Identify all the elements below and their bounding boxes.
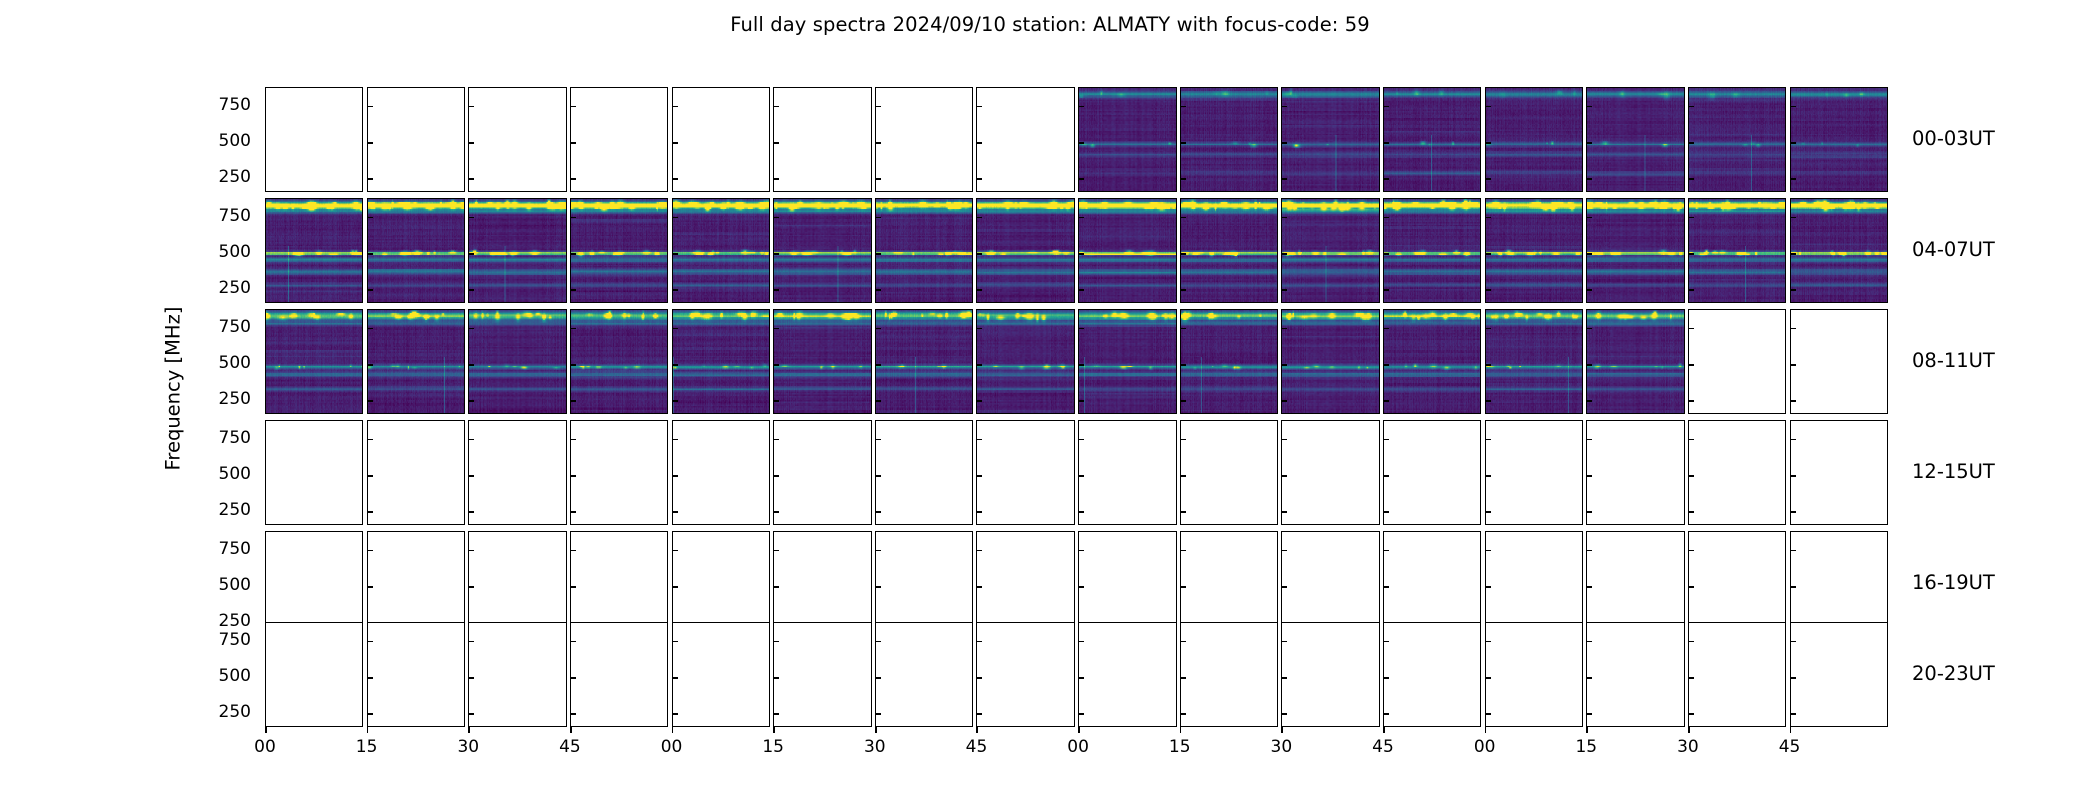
spectrogram-panel[interactable] <box>1688 309 1786 414</box>
spectrogram-row: 0015304500153045001530450015304575050025… <box>0 622 2100 727</box>
spectrogram-panel[interactable] <box>672 309 770 414</box>
y-tick-mark <box>773 217 779 219</box>
spectrogram-panel[interactable] <box>1688 198 1786 303</box>
spectrogram-image <box>1181 88 1277 191</box>
spectrogram-panel[interactable] <box>570 622 668 727</box>
y-tick-mark <box>570 677 576 679</box>
y-tick-mark <box>976 550 982 552</box>
spectrogram-panel[interactable] <box>976 420 1074 525</box>
spectrogram-panel[interactable] <box>570 198 668 303</box>
y-tick-mark <box>1790 713 1796 715</box>
y-tick-mark <box>773 677 779 679</box>
spectrogram-panel[interactable] <box>367 531 465 636</box>
spectrogram-panel[interactable] <box>672 622 770 727</box>
y-tick-mark <box>1383 713 1389 715</box>
spectrogram-panel[interactable] <box>1180 420 1278 525</box>
row-label-20-23ut: 20-23UT <box>1912 662 1995 685</box>
y-tick-mark <box>1688 328 1694 330</box>
spectrogram-panel[interactable] <box>1383 87 1481 192</box>
y-tick-mark <box>1485 511 1491 513</box>
y-tick-mark <box>1078 142 1084 144</box>
spectrogram-image <box>1587 310 1683 413</box>
spectrogram-image <box>571 310 667 413</box>
spectrogram-panel[interactable] <box>773 198 871 303</box>
row-label-12-15ut: 12-15UT <box>1912 460 1995 483</box>
y-tick-mark <box>1586 586 1592 588</box>
y-tick-mark <box>1383 641 1389 643</box>
y-tick-mark <box>773 364 779 366</box>
x-tick-mark <box>1383 727 1385 733</box>
y-tick-mark <box>1383 586 1389 588</box>
spectrogram-image <box>774 199 870 302</box>
y-tick-mark <box>976 106 982 108</box>
spectrogram-panel[interactable] <box>1790 87 1888 192</box>
y-tick-mark <box>265 511 266 513</box>
spectrogram-image <box>1791 88 1887 191</box>
spectrogram-panel[interactable] <box>672 87 770 192</box>
x-tick-mark <box>875 727 877 733</box>
spectrogram-panel[interactable] <box>1586 198 1684 303</box>
spectrogram-panel[interactable] <box>1688 87 1786 192</box>
y-tick-mark <box>1281 253 1287 255</box>
x-tick-mark <box>468 727 470 733</box>
spectrogram-panel[interactable] <box>570 531 668 636</box>
spectrogram-panel[interactable] <box>773 531 871 636</box>
spectrogram-panel[interactable] <box>1485 622 1583 727</box>
y-tick-mark <box>672 439 678 441</box>
y-tick-mark <box>1688 677 1694 679</box>
y-tick-mark <box>570 328 576 330</box>
y-tick-mark <box>1586 439 1592 441</box>
y-tick-mark <box>468 106 474 108</box>
spectrogram-panel[interactable] <box>1586 87 1684 192</box>
y-tick-mark <box>1790 475 1796 477</box>
y-tick-mark <box>976 217 982 219</box>
y-tick-mark <box>1383 253 1389 255</box>
y-tick-mark <box>367 178 373 180</box>
spectrogram-panel[interactable] <box>1485 87 1583 192</box>
spectrogram-image <box>1079 199 1175 302</box>
y-tick-mark <box>570 106 576 108</box>
y-tick-mark <box>1688 253 1694 255</box>
x-tick-label: 15 <box>1556 737 1616 757</box>
x-tick-mark <box>1281 727 1283 733</box>
y-tick-mark <box>468 439 474 441</box>
spectrogram-panel[interactable] <box>1485 309 1583 414</box>
x-tick-label: 45 <box>1760 737 1820 757</box>
y-tick-mark <box>1485 586 1491 588</box>
spectrogram-panel[interactable] <box>1383 420 1481 525</box>
spectrogram-panel[interactable] <box>1281 198 1379 303</box>
x-tick-label: 15 <box>337 737 397 757</box>
y-tick-mark <box>976 511 982 513</box>
y-tick-mark <box>570 289 576 291</box>
y-tick-mark <box>468 289 474 291</box>
x-tick-label: 15 <box>743 737 803 757</box>
y-tick-mark <box>1790 641 1796 643</box>
spectrogram-panel[interactable] <box>1180 622 1278 727</box>
row-label-08-11ut: 08-11UT <box>1912 349 1995 372</box>
spectrogram-panel[interactable] <box>468 622 566 727</box>
y-tick-mark <box>1586 475 1592 477</box>
y-tick-mark <box>265 289 266 291</box>
spectrogram-panel[interactable] <box>1180 531 1278 636</box>
y-tick-mark <box>1383 677 1389 679</box>
y-tick-mark <box>875 475 881 477</box>
y-tick-mark <box>265 475 266 477</box>
spectrogram-panel[interactable] <box>773 622 871 727</box>
spectrogram-panel[interactable] <box>773 420 871 525</box>
y-tick-mark <box>1485 439 1491 441</box>
y-tick-mark <box>265 550 266 552</box>
spectrogram-image <box>1384 199 1480 302</box>
spectrogram-panel[interactable] <box>468 531 566 636</box>
y-tick-mark <box>1281 289 1287 291</box>
y-tick-mark <box>672 253 678 255</box>
y-tick-mark <box>1180 713 1186 715</box>
spectrogram-panel[interactable] <box>367 87 465 192</box>
y-tick-mark <box>1688 439 1694 441</box>
y-tick-mark <box>1383 142 1389 144</box>
y-tick-mark <box>1180 586 1186 588</box>
spectrogram-panel[interactable] <box>1586 420 1684 525</box>
spectrogram-image <box>673 310 769 413</box>
y-tick-mark <box>468 217 474 219</box>
spectrogram-panel[interactable] <box>1078 198 1176 303</box>
spectrogram-panel[interactable] <box>773 309 871 414</box>
spectrogram-image <box>1486 199 1582 302</box>
y-tick-mark <box>1485 289 1491 291</box>
y-tick-mark <box>1383 400 1389 402</box>
spectrogram-panel[interactable] <box>1383 309 1481 414</box>
spectrogram-panel[interactable] <box>1485 420 1583 525</box>
x-tick-mark <box>1485 727 1487 733</box>
y-tick-mark <box>1180 253 1186 255</box>
row-label-04-07ut: 04-07UT <box>1912 238 1995 261</box>
spectrogram-image <box>1486 310 1582 413</box>
y-tick-mark <box>875 253 881 255</box>
y-tick-mark <box>367 586 373 588</box>
y-tick-mark <box>367 439 373 441</box>
spectrogram-image <box>1181 199 1277 302</box>
y-tick-mark <box>1485 217 1491 219</box>
y-tick-mark <box>773 253 779 255</box>
spectrogram-panel[interactable] <box>1281 309 1379 414</box>
y-tick-mark <box>1281 217 1287 219</box>
x-tick-mark <box>1180 727 1182 733</box>
spectrogram-panel[interactable] <box>1078 420 1176 525</box>
spectrogram-panel[interactable] <box>1078 87 1176 192</box>
y-tick-mark <box>1790 439 1796 441</box>
spectrogram-row: 75050025012-15UT <box>0 420 2100 525</box>
y-tick-mark <box>1688 106 1694 108</box>
y-tick-mark <box>265 178 266 180</box>
spectrogram-panel[interactable] <box>1383 198 1481 303</box>
y-tick-mark <box>1790 289 1796 291</box>
y-tick-mark <box>672 217 678 219</box>
spectrogram-image <box>876 199 972 302</box>
y-tick-mark <box>1790 178 1796 180</box>
spectrogram-panel[interactable] <box>570 87 668 192</box>
y-tick-mark <box>672 475 678 477</box>
spectrogram-image <box>1181 310 1277 413</box>
spectrogram-panel[interactable] <box>976 531 1074 636</box>
x-tick-label: 45 <box>540 737 600 757</box>
row-label-16-19ut: 16-19UT <box>1912 571 1995 594</box>
y-tick-mark <box>1586 400 1592 402</box>
spectrogram-panel[interactable] <box>265 420 363 525</box>
y-tick-mark <box>875 511 881 513</box>
y-tick-mark <box>1586 713 1592 715</box>
y-tick-mark <box>875 586 881 588</box>
spectrogram-image <box>1587 199 1683 302</box>
y-tick-mark <box>1586 641 1592 643</box>
y-tick-mark <box>265 400 266 402</box>
spectrogram-panel[interactable] <box>875 198 973 303</box>
x-tick-mark <box>773 727 775 733</box>
y-tick-mark <box>1281 364 1287 366</box>
x-tick-mark <box>1078 727 1080 733</box>
y-tick-mark <box>1485 253 1491 255</box>
spectrogram-panel[interactable] <box>468 420 566 525</box>
x-tick-mark <box>570 727 572 733</box>
y-tick-mark <box>672 713 678 715</box>
y-tick-label: 750 <box>191 206 251 226</box>
x-tick-mark <box>976 727 978 733</box>
spectrogram-panel[interactable] <box>1790 309 1888 414</box>
x-tick-label: 00 <box>235 737 295 757</box>
spectrogram-panel[interactable] <box>672 420 770 525</box>
spectrogram-panel[interactable] <box>1383 622 1481 727</box>
y-tick-mark <box>672 511 678 513</box>
y-tick-mark <box>875 641 881 643</box>
spectrogram-panel[interactable] <box>367 309 465 414</box>
spectrogram-row: 75050025004-07UT <box>0 198 2100 303</box>
spectrogram-panel[interactable] <box>1180 309 1278 414</box>
spectrogram-panel[interactable] <box>1078 622 1176 727</box>
y-tick-mark <box>1281 106 1287 108</box>
spectrogram-image <box>977 310 1073 413</box>
y-tick-mark <box>1790 364 1796 366</box>
spectrogram-panel[interactable] <box>1180 198 1278 303</box>
spectrogram-image <box>368 310 464 413</box>
y-tick-mark <box>1586 328 1592 330</box>
spectrogram-panel[interactable] <box>468 198 566 303</box>
y-tick-mark <box>976 253 982 255</box>
y-tick-mark <box>1485 106 1491 108</box>
spectrogram-panel[interactable] <box>875 531 973 636</box>
y-tick-mark <box>773 178 779 180</box>
y-tick-mark <box>773 289 779 291</box>
spectrogram-panel[interactable] <box>1688 420 1786 525</box>
x-tick-label: 00 <box>1455 737 1515 757</box>
spectrogram-image <box>469 199 565 302</box>
y-tick-mark <box>672 677 678 679</box>
y-tick-mark <box>976 713 982 715</box>
spectrogram-panel[interactable] <box>367 420 465 525</box>
spectrogram-panel[interactable] <box>672 198 770 303</box>
y-tick-mark <box>976 328 982 330</box>
y-tick-mark <box>468 641 474 643</box>
y-tick-mark <box>1180 142 1186 144</box>
y-tick-label: 750 <box>191 317 251 337</box>
y-tick-mark <box>672 586 678 588</box>
spectrogram-panel[interactable] <box>773 87 871 192</box>
spectrogram-panel[interactable] <box>265 198 363 303</box>
spectrogram-panel[interactable] <box>1790 531 1888 636</box>
spectrogram-panel[interactable] <box>468 309 566 414</box>
y-tick-mark <box>265 713 266 715</box>
x-tick-mark <box>672 727 674 733</box>
spectrogram-panel[interactable] <box>1281 622 1379 727</box>
spectrogram-panel[interactable] <box>367 198 465 303</box>
spectrogram-panel[interactable] <box>672 531 770 636</box>
y-tick-mark <box>875 550 881 552</box>
y-tick-mark <box>1383 364 1389 366</box>
y-tick-mark <box>976 178 982 180</box>
spectrogram-panel[interactable] <box>265 531 363 636</box>
y-tick-mark <box>773 586 779 588</box>
spectrogram-row: 75050025016-19UT <box>0 531 2100 636</box>
y-tick-mark <box>1790 328 1796 330</box>
spectrogram-panel[interactable] <box>976 198 1074 303</box>
spectrogram-panel[interactable] <box>265 622 363 727</box>
spectrogram-panel[interactable] <box>1790 420 1888 525</box>
y-tick-label: 750 <box>191 428 251 448</box>
spectrogram-panel[interactable] <box>1078 309 1176 414</box>
spectrogram-image <box>774 310 870 413</box>
y-tick-mark <box>1790 217 1796 219</box>
spectrogram-image <box>368 199 464 302</box>
y-tick-mark <box>672 364 678 366</box>
y-tick-mark <box>367 400 373 402</box>
spectrogram-panel[interactable] <box>1688 622 1786 727</box>
y-tick-mark <box>468 142 474 144</box>
y-tick-mark <box>1180 106 1186 108</box>
spectrogram-image <box>1689 199 1785 302</box>
y-tick-mark <box>570 439 576 441</box>
spectrogram-panel[interactable] <box>1281 531 1379 636</box>
page-title: Full day spectra 2024/09/10 station: ALM… <box>0 13 2100 36</box>
x-tick-label: 30 <box>1251 737 1311 757</box>
spectrogram-panel[interactable] <box>976 309 1074 414</box>
spectrogram-panel[interactable] <box>875 87 973 192</box>
y-tick-mark <box>265 142 266 144</box>
y-tick-mark <box>570 364 576 366</box>
spectrogram-panel[interactable] <box>1281 420 1379 525</box>
spectrogram-panel[interactable] <box>1180 87 1278 192</box>
y-tick-mark <box>1688 641 1694 643</box>
spectrogram-panel[interactable] <box>1688 531 1786 636</box>
y-tick-mark <box>1078 178 1084 180</box>
spectrogram-panel[interactable] <box>976 87 1074 192</box>
y-tick-mark <box>468 511 474 513</box>
y-tick-mark <box>468 550 474 552</box>
y-tick-mark <box>773 106 779 108</box>
y-tick-mark <box>1180 677 1186 679</box>
spectrogram-image <box>1486 88 1582 191</box>
y-tick-mark <box>976 400 982 402</box>
spectrogram-panel[interactable] <box>976 622 1074 727</box>
spectrogram-panel[interactable] <box>1485 198 1583 303</box>
y-tick-mark <box>265 217 266 219</box>
y-tick-mark <box>1485 178 1491 180</box>
x-tick-mark <box>1688 727 1690 733</box>
y-tick-mark <box>1180 217 1186 219</box>
y-tick-mark <box>1790 511 1796 513</box>
spectrogram-panel[interactable] <box>265 87 363 192</box>
spectrogram-image <box>266 199 362 302</box>
spectrogram-panel[interactable] <box>367 622 465 727</box>
spectrogram-panel[interactable] <box>265 309 363 414</box>
x-tick-label: 00 <box>642 737 702 757</box>
y-tick-mark <box>468 713 474 715</box>
y-tick-mark <box>1688 364 1694 366</box>
y-tick-label: 500 <box>191 575 251 595</box>
y-tick-mark <box>976 289 982 291</box>
spectrogram-panel[interactable] <box>875 309 973 414</box>
y-tick-mark <box>1688 475 1694 477</box>
spectrogram-image <box>1079 88 1175 191</box>
spectrogram-panel[interactable] <box>1586 531 1684 636</box>
y-tick-mark <box>1281 328 1287 330</box>
y-tick-mark <box>367 475 373 477</box>
y-tick-mark <box>773 400 779 402</box>
spectrogram-image <box>1791 199 1887 302</box>
y-tick-mark <box>1078 511 1084 513</box>
y-tick-mark <box>1688 400 1694 402</box>
spectrogram-panel[interactable] <box>875 420 973 525</box>
spectrogram-panel[interactable] <box>1383 531 1481 636</box>
y-tick-mark <box>1281 586 1287 588</box>
spectrogram-figure: Full day spectra 2024/09/10 station: ALM… <box>0 0 2100 800</box>
spectrogram-panel[interactable] <box>1790 198 1888 303</box>
spectrogram-panel[interactable] <box>1281 87 1379 192</box>
y-tick-mark <box>1180 400 1186 402</box>
spectrogram-panel[interactable] <box>1586 622 1684 727</box>
spectrogram-panel[interactable] <box>570 309 668 414</box>
y-tick-mark <box>773 641 779 643</box>
y-tick-mark <box>367 641 373 643</box>
spectrogram-panel[interactable] <box>1078 531 1176 636</box>
spectrogram-panel[interactable] <box>570 420 668 525</box>
spectrogram-panel[interactable] <box>1586 309 1684 414</box>
y-tick-mark <box>875 289 881 291</box>
x-tick-label: 30 <box>1658 737 1718 757</box>
y-tick-mark <box>1790 400 1796 402</box>
spectrogram-panel[interactable] <box>875 622 973 727</box>
y-tick-mark <box>773 713 779 715</box>
y-tick-mark <box>875 217 881 219</box>
y-tick-mark <box>1078 475 1084 477</box>
y-tick-mark <box>1383 550 1389 552</box>
spectrogram-panel[interactable] <box>1485 531 1583 636</box>
spectrogram-panel[interactable] <box>468 87 566 192</box>
y-tick-mark <box>773 142 779 144</box>
y-tick-mark <box>1586 217 1592 219</box>
y-tick-label: 750 <box>191 539 251 559</box>
y-tick-mark <box>1078 364 1084 366</box>
y-tick-mark <box>875 400 881 402</box>
y-tick-mark <box>1586 364 1592 366</box>
spectrogram-panel[interactable] <box>1790 622 1888 727</box>
y-tick-mark <box>1180 550 1186 552</box>
y-tick-mark <box>367 364 373 366</box>
y-tick-mark <box>570 550 576 552</box>
y-tick-mark <box>875 178 881 180</box>
y-tick-mark <box>1281 439 1287 441</box>
y-tick-mark <box>1078 713 1084 715</box>
